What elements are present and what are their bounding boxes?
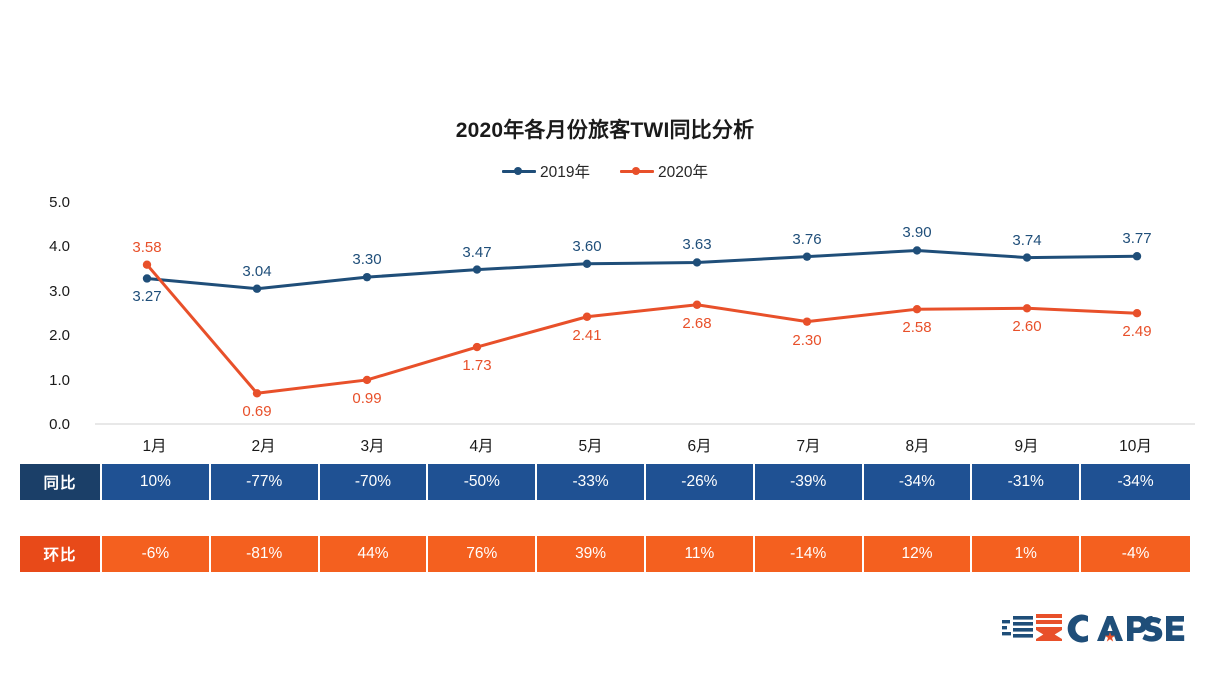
table-row-gap: [20, 500, 1190, 536]
table-cell: -39%: [755, 464, 864, 500]
y-tick-1: 1.0: [24, 372, 70, 389]
data-point[interactable]: [253, 285, 261, 293]
month-header-3: 3月: [318, 432, 427, 462]
table-cell: -14%: [755, 536, 864, 572]
table-cell: 1%: [972, 536, 1081, 572]
data-label: 3.04: [222, 263, 292, 280]
data-label: 2.58: [882, 319, 952, 336]
data-label: 2.41: [552, 327, 622, 344]
data-point[interactable]: [363, 376, 371, 384]
data-point[interactable]: [583, 260, 591, 268]
y-tick-0: 0.0: [24, 416, 70, 433]
data-label: 3.60: [552, 238, 622, 255]
table-cell: 39%: [537, 536, 646, 572]
table-cell: -34%: [1081, 464, 1190, 500]
data-label: 3.30: [332, 251, 402, 268]
logo-stripes-icon: [1002, 614, 1062, 641]
data-label: 2.68: [662, 315, 732, 332]
data-label: 3.47: [442, 244, 512, 261]
data-point[interactable]: [1133, 252, 1141, 260]
data-point[interactable]: [913, 246, 921, 254]
table-cell: 11%: [646, 536, 755, 572]
data-label: 3.63: [662, 236, 732, 253]
table-cell: -81%: [211, 536, 320, 572]
month-header-2: 2月: [209, 432, 318, 462]
table-cell: 76%: [428, 536, 537, 572]
data-point[interactable]: [1133, 309, 1141, 317]
data-point[interactable]: [143, 260, 151, 268]
y-tick-5: 5.0: [24, 194, 70, 211]
data-point[interactable]: [913, 305, 921, 313]
data-label: 3.76: [772, 231, 842, 248]
table-cell: -26%: [646, 464, 755, 500]
data-point[interactable]: [363, 273, 371, 281]
data-label: 3.90: [882, 224, 952, 241]
data-label: 3.77: [1102, 230, 1172, 247]
y-tick-2: 2.0: [24, 327, 70, 344]
series-line-2019年: [147, 250, 1137, 288]
data-point[interactable]: [143, 274, 151, 282]
month-header-5: 5月: [536, 432, 645, 462]
data-label: 2.30: [772, 332, 842, 349]
logo-wordmark: [1068, 615, 1185, 643]
month-header-6: 6月: [645, 432, 754, 462]
table-cell: -34%: [864, 464, 973, 500]
summary-data-table: 同比10%-77%-70%-50%-33%-26%-39%-34%-31%-34…: [20, 464, 1190, 572]
y-tick-3: 3.0: [24, 283, 70, 300]
data-label: 3.58: [112, 239, 182, 256]
table-cell: -6%: [102, 536, 211, 572]
slide-canvas: 2020年各月份旅客TWI同比分析 2019年 2020年 5.0 4.0 3.…: [0, 0, 1210, 673]
month-header-10: 10月: [1081, 432, 1190, 462]
data-label: 3.27: [112, 288, 182, 305]
month-header-4: 4月: [427, 432, 536, 462]
data-point[interactable]: [1023, 253, 1031, 261]
table-cell: 10%: [102, 464, 211, 500]
table-cell: -31%: [972, 464, 1081, 500]
table-cell: -33%: [537, 464, 646, 500]
data-label: 1.73: [442, 357, 512, 374]
month-header-7: 7月: [754, 432, 863, 462]
table-cell: 12%: [864, 536, 973, 572]
y-tick-4: 4.0: [24, 238, 70, 255]
line-chart-plot-area: 5.0 4.0 3.0 2.0 1.0 0.0 3.273.043.303.47…: [0, 0, 1210, 460]
chart-series-svg: [0, 0, 1210, 460]
data-point[interactable]: [473, 343, 481, 351]
table-cell: -50%: [428, 464, 537, 500]
table-row: 同比10%-77%-70%-50%-33%-26%-39%-34%-31%-34…: [20, 464, 1190, 500]
table-row-label: 环比: [20, 536, 102, 572]
data-point[interactable]: [583, 313, 591, 321]
table-row: 环比-6%-81%44%76%39%11%-14%12%1%-4%: [20, 536, 1190, 572]
data-point[interactable]: [1023, 304, 1031, 312]
data-point[interactable]: [803, 252, 811, 260]
table-cell: -70%: [320, 464, 429, 500]
capse-logo: [1000, 608, 1185, 654]
month-header-8: 8月: [863, 432, 972, 462]
data-label: 2.60: [992, 318, 1062, 335]
data-point[interactable]: [803, 317, 811, 325]
month-header-9: 9月: [972, 432, 1081, 462]
data-label: 3.74: [992, 232, 1062, 249]
data-point[interactable]: [473, 265, 481, 273]
month-header-row: 1月2月3月4月5月6月7月8月9月10月: [20, 432, 1190, 462]
table-row-label: 同比: [20, 464, 102, 500]
table-cell: -4%: [1081, 536, 1190, 572]
month-header-spacer: [20, 432, 100, 462]
data-point[interactable]: [253, 389, 261, 397]
data-label: 2.49: [1102, 323, 1172, 340]
data-label: 0.99: [332, 390, 402, 407]
month-header-1: 1月: [100, 432, 209, 462]
table-cell: 44%: [320, 536, 429, 572]
data-point[interactable]: [693, 301, 701, 309]
data-point[interactable]: [693, 258, 701, 266]
data-label: 0.69: [222, 403, 292, 420]
table-cell: -77%: [211, 464, 320, 500]
